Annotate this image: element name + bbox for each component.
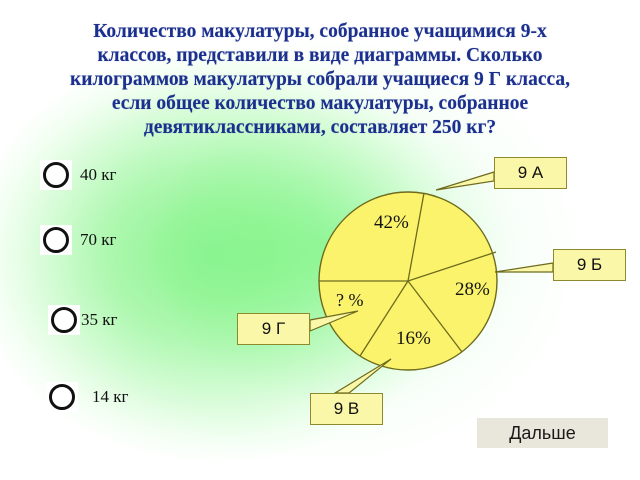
circle-bullet-icon: [40, 225, 72, 255]
answer-option-40kg[interactable]: 40 кг: [40, 160, 116, 190]
pie-label-16: 16%: [396, 328, 431, 350]
answer-option-label: 40 кг: [80, 165, 116, 185]
callout-9g[interactable]: 9 Г: [237, 313, 310, 345]
title-line-4: если общее количество макулатуры, собран…: [22, 92, 618, 116]
answer-option-14kg[interactable]: 14 кг: [46, 382, 128, 412]
pie-label-42: 42%: [374, 212, 409, 234]
title-line-2: классов, представили в виде диаграммы. С…: [22, 44, 618, 68]
title-line-5: девятиклассниками, составляет 250 кг?: [22, 116, 618, 140]
answer-option-label: 35 кг: [81, 310, 117, 330]
title-line-3: килограммов макулатуры собрали учащиеся …: [22, 68, 618, 92]
callout-9b[interactable]: 9 Б: [553, 249, 626, 281]
title-line-1: Количество макулатуры, собранное учащими…: [22, 20, 618, 44]
page-title: Количество макулатуры, собранное учащими…: [22, 20, 618, 140]
callout-9a[interactable]: 9 А: [494, 157, 567, 189]
answer-option-label: 70 кг: [80, 230, 116, 250]
next-button[interactable]: Дальше: [477, 418, 608, 448]
circle-bullet-icon: [46, 382, 78, 412]
circle-bullet-icon: [48, 305, 80, 335]
answer-option-70kg[interactable]: 70 кг: [40, 225, 116, 255]
answer-option-35kg[interactable]: 35 кг: [48, 305, 117, 335]
callout-9v[interactable]: 9 В: [310, 393, 383, 425]
pie-label-28: 28%: [455, 279, 490, 301]
answer-option-label: 14 кг: [92, 387, 128, 407]
pie-label-unknown: ? %: [336, 290, 363, 311]
circle-bullet-icon: [40, 160, 72, 190]
